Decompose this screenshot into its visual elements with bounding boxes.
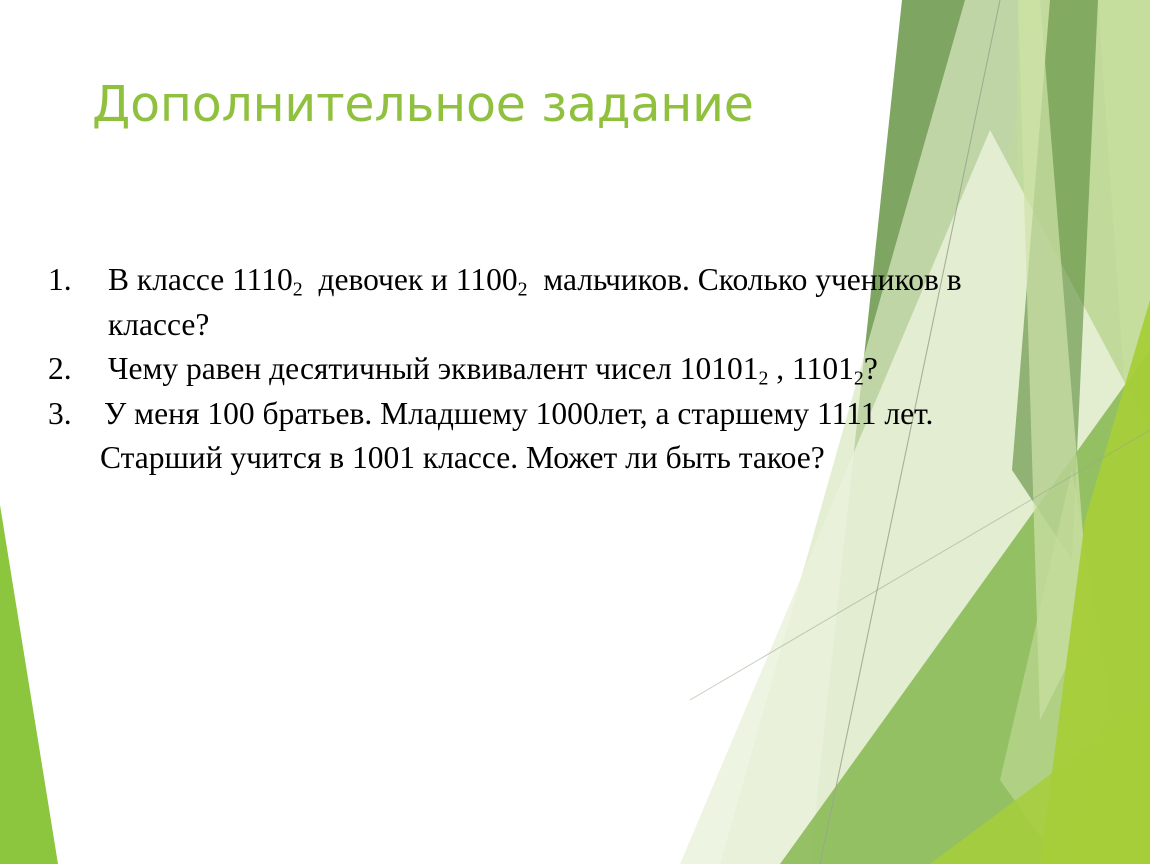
ribbon-very-pale-wedge	[680, 130, 1150, 864]
slide: Дополнительное задание 1. В классе 11102…	[0, 0, 1150, 864]
list-item-marker: 2.	[48, 347, 92, 392]
binary-subscript: 2	[759, 368, 769, 390]
list-item-marker: 3.	[48, 392, 92, 437]
ribbon-light-sliver	[1018, 0, 1090, 720]
ribbon-right-bright-band	[1010, 0, 1150, 864]
binary-subscript: 2	[854, 368, 864, 390]
list-item-text: Чему равен десятичный эквивалент чисел 1…	[108, 347, 976, 392]
task-list: 1. В классе 11102 девочек и 11002 мальчи…	[46, 258, 976, 481]
page-title: Дополнительное задание	[92, 78, 852, 132]
ribbon-light-sliver-lower	[1000, 470, 1110, 864]
ribbon-front-lime-wedge	[1040, 300, 1150, 864]
list-item-text: У меня 100 братьев. Младшему 1000лет, а …	[100, 392, 976, 481]
title-block: Дополнительное задание	[92, 78, 852, 132]
list-item-text: В классе 11102 девочек и 11002 мальчиков…	[108, 258, 976, 347]
ribbon-bottom-lime-fill	[930, 700, 1150, 864]
list-item: 1. В классе 11102 девочек и 11002 мальчи…	[46, 258, 976, 347]
binary-subscript: 2	[518, 279, 528, 301]
task-list-block: 1. В классе 11102 девочек и 11002 мальчи…	[46, 258, 976, 481]
list-item: 3. У меня 100 братьев. Младшему 1000лет,…	[46, 392, 976, 481]
list-item-marker: 1.	[48, 258, 92, 303]
binary-subscript: 2	[293, 279, 303, 301]
list-item: 2. Чему равен десятичный эквивалент чисе…	[46, 347, 976, 392]
ribbon-dark-overlap-sliver	[1012, 0, 1098, 560]
ribbon-left-bottom-triangle	[0, 505, 58, 864]
